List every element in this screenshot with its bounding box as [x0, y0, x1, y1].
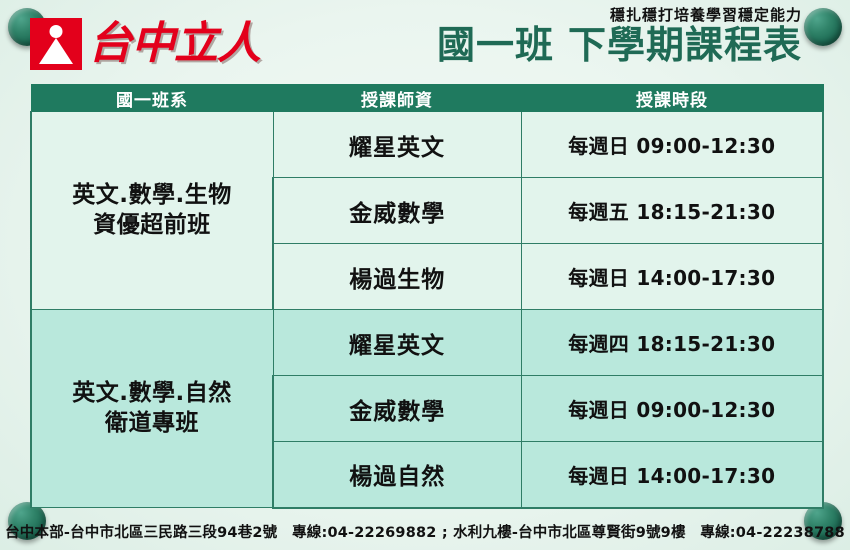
course-schedule-table: 國一班系 授課師資 授課時段 英文.數學.生物 資優超前班 耀星英文 每週日 0… [30, 84, 824, 509]
brand-logo: 台中立人 [30, 18, 260, 70]
poster: 台中立人 穩扎穩打培養學習穩定能力 國一班下學期課程表 國一班系 授課師資 授課… [0, 0, 850, 550]
teacher-cell: 耀星英文 [273, 310, 521, 376]
table-row: 英文.數學.自然 衛道專班 耀星英文 每週四 18:15-21:30 [31, 310, 823, 376]
time-cell: 每週日 14:00-17:30 [521, 244, 823, 310]
group-name-line2: 資優超前班 [32, 211, 272, 240]
poster-header: 台中立人 穩扎穩打培養學習穩定能力 國一班下學期課程表 [0, 0, 850, 84]
column-header-teacher: 授課師資 [273, 85, 521, 112]
person-body-shape [39, 38, 73, 64]
person-head-shape [50, 25, 63, 38]
group-name-cell: 英文.數學.生物 資優超前班 [31, 112, 273, 310]
contact-footer: 台中本部-台中市北區三民路三段94巷2號 專線:04-22269882 ; 水利… [0, 521, 850, 542]
group-name-cell: 英文.數學.自然 衛道專班 [31, 310, 273, 508]
group-name-line1: 英文.數學.生物 [32, 181, 272, 210]
column-header-class: 國一班系 [31, 85, 273, 112]
time-cell: 每週五 18:15-21:30 [521, 178, 823, 244]
time-cell: 每週四 18:15-21:30 [521, 310, 823, 376]
page-title-term: 下學期課程表 [568, 23, 802, 67]
person-in-square-icon [30, 18, 82, 70]
teacher-cell: 楊過自然 [273, 442, 521, 508]
teacher-cell: 金威數學 [273, 376, 521, 442]
group-name-line1: 英文.數學.自然 [32, 379, 272, 408]
teacher-cell: 金威數學 [273, 178, 521, 244]
column-header-time: 授課時段 [521, 85, 823, 112]
table-row: 英文.數學.生物 資優超前班 耀星英文 每週日 09:00-12:30 [31, 112, 823, 178]
table-header-row: 國一班系 授課師資 授課時段 [31, 85, 823, 112]
teacher-cell: 楊過生物 [273, 244, 521, 310]
teacher-cell: 耀星英文 [273, 112, 521, 178]
table-header: 國一班系 授課師資 授課時段 [31, 85, 823, 112]
time-cell: 每週日 14:00-17:30 [521, 442, 823, 508]
page-title-grade: 國一班 [437, 23, 554, 67]
time-cell: 每週日 09:00-12:30 [521, 376, 823, 442]
page-title: 國一班下學期課程表 [437, 25, 802, 66]
title-block: 穩扎穩打培養學習穩定能力 國一班下學期課程表 [437, 6, 802, 66]
time-cell: 每週日 09:00-12:30 [521, 112, 823, 178]
table-body: 英文.數學.生物 資優超前班 耀星英文 每週日 09:00-12:30 金威數學… [31, 112, 823, 508]
brand-name: 台中立人 [88, 22, 260, 66]
tagline: 穩扎穩打培養學習穩定能力 [437, 6, 802, 24]
group-name-line2: 衛道專班 [32, 409, 272, 438]
